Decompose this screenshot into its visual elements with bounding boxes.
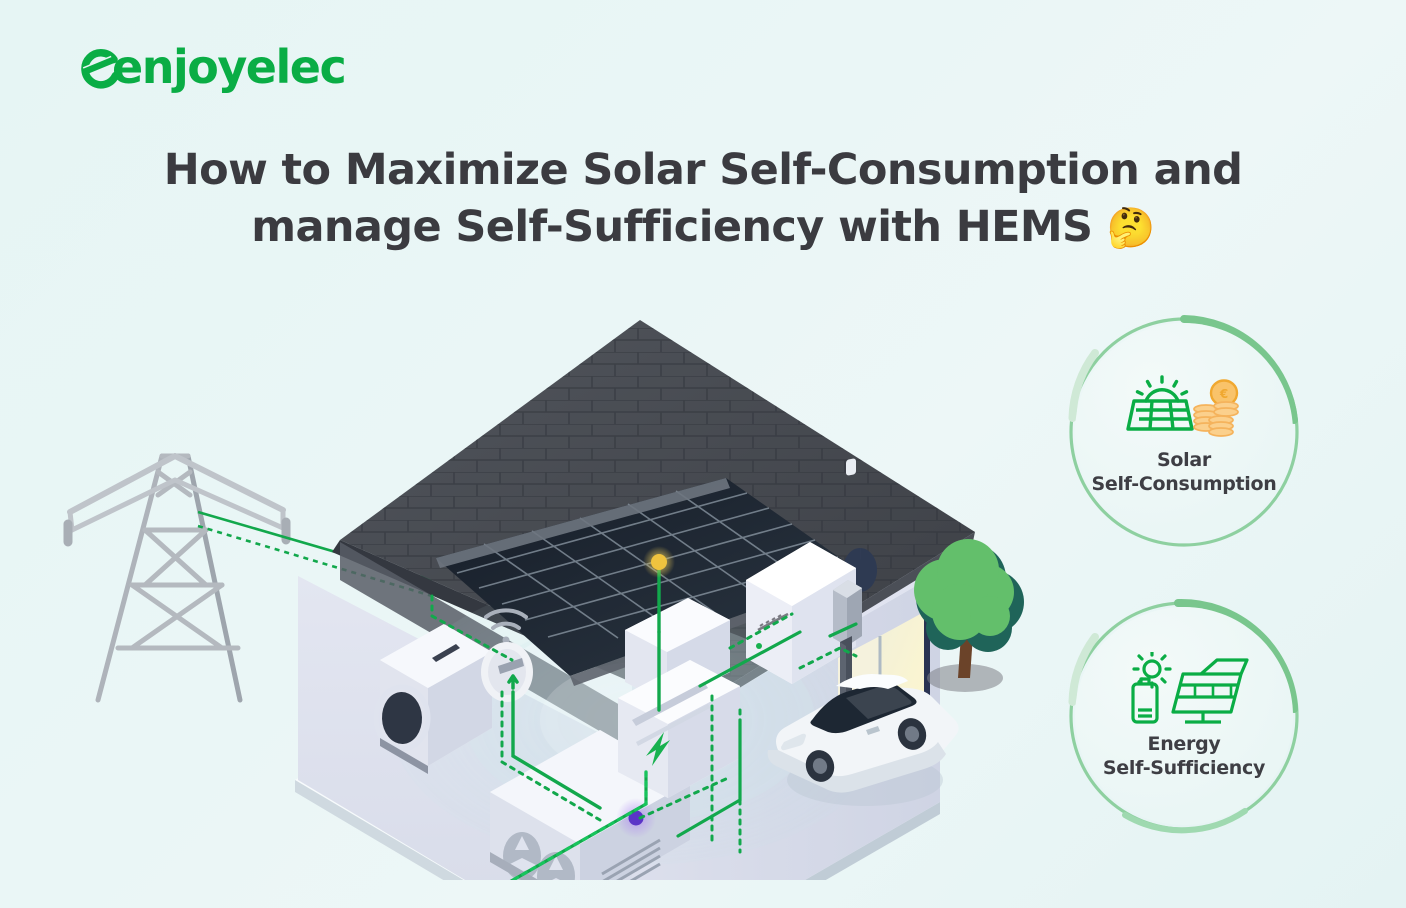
badge-content: € Solar Self-Consumption: [1075, 323, 1293, 541]
badge-icon-group: €: [1118, 367, 1250, 445]
battery-icon: [1133, 679, 1157, 722]
solar-panel-sun-icon: [1138, 377, 1187, 401]
badge-label-line-2: Self-Sufficiency: [1103, 757, 1265, 781]
badge-label-line-1: Energy: [1103, 733, 1265, 757]
solar-panel-icon: [1173, 660, 1247, 722]
badge-label-line-2: Self-Consumption: [1091, 473, 1276, 497]
home-energy-illustration: [40, 280, 1070, 880]
euro-coins-icon: €: [1194, 381, 1238, 437]
svg-text:€: €: [1219, 387, 1228, 401]
badge-energy-self-sufficiency[interactable]: Energy Self-Sufficiency: [1065, 597, 1303, 835]
badge-icon-group: [1119, 651, 1249, 729]
hems-status-led: [756, 643, 762, 649]
badge-label-line-1: Solar: [1091, 449, 1276, 473]
title-line-2: manage Self-Sufficiency with HEMS: [251, 202, 1092, 252]
solar-panel-icon: [1128, 401, 1192, 429]
thinking-face-emoji: 🤔: [1107, 206, 1155, 251]
brand-wordmark: enjoyelec: [112, 44, 345, 90]
page-title: How to Maximize Solar Self-Consumption a…: [0, 142, 1406, 256]
brand-logo[interactable]: enjoyelec: [78, 44, 345, 90]
power-pylon: [68, 456, 286, 700]
solar-node-dot: [651, 554, 667, 570]
badge-label: Energy Self-Sufficiency: [1103, 733, 1265, 781]
title-line-1: How to Maximize Solar Self-Consumption a…: [120, 142, 1286, 199]
poster-canvas: enjoyelec How to Maximize Solar Self-Con…: [0, 0, 1406, 908]
badge-label: Solar Self-Consumption: [1091, 449, 1276, 497]
title-line-2-wrap: manage Self-Sufficiency with HEMS 🤔: [120, 199, 1286, 256]
badge-solar-self-consumption[interactable]: € Solar Self-Consumption: [1065, 313, 1303, 551]
badge-content: Energy Self-Sufficiency: [1075, 607, 1293, 825]
